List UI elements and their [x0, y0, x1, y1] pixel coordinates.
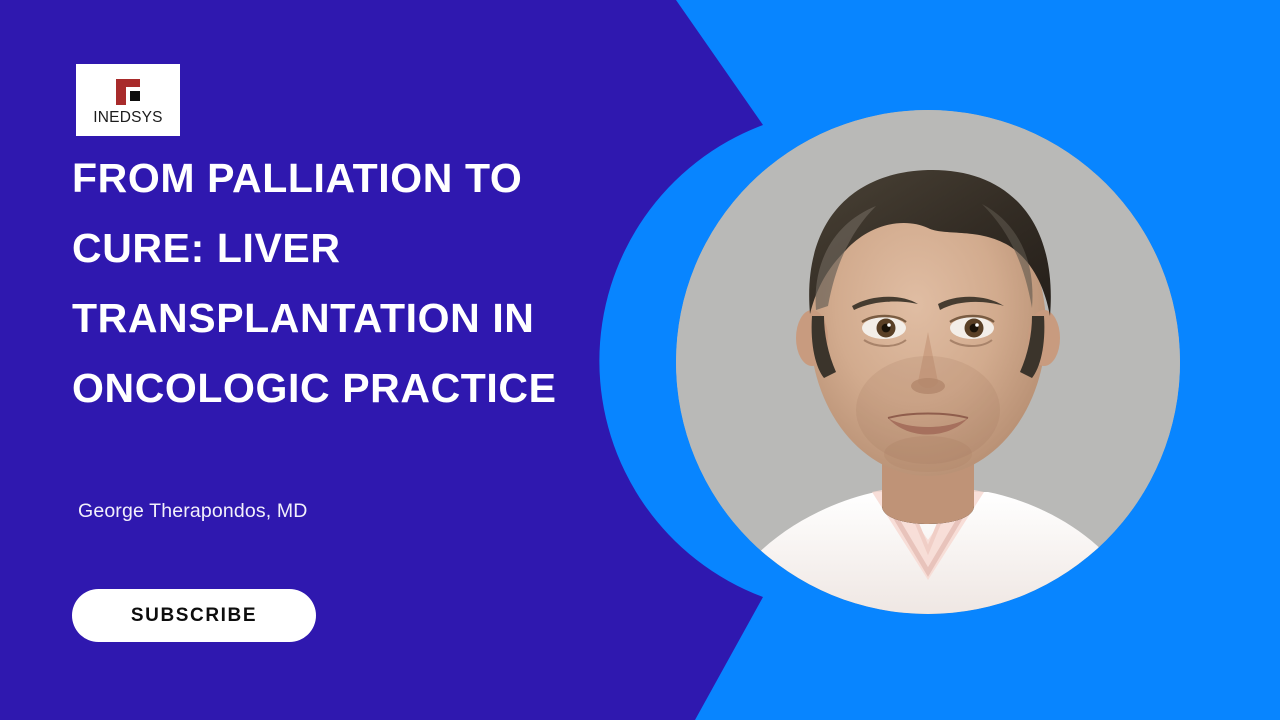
brand-logo: INEDSYS — [76, 64, 180, 136]
slide-content-column: INEDSYS From Palliation to Cure: Liver T… — [0, 0, 660, 720]
speaker-portrait-image — [676, 110, 1180, 614]
presentation-slide: INEDSYS From Palliation to Cure: Liver T… — [0, 0, 1280, 720]
page-title: From Palliation to Cure: Liver Transplan… — [72, 143, 642, 423]
subscribe-button[interactable]: SUBSCRIBE — [72, 589, 316, 642]
brand-wordmark: INEDSYS — [93, 110, 162, 126]
inedsys-logo-mark-icon — [113, 77, 143, 107]
speaker-portrait — [676, 110, 1180, 614]
speaker-name: George Therapondos, MD — [78, 500, 307, 523]
